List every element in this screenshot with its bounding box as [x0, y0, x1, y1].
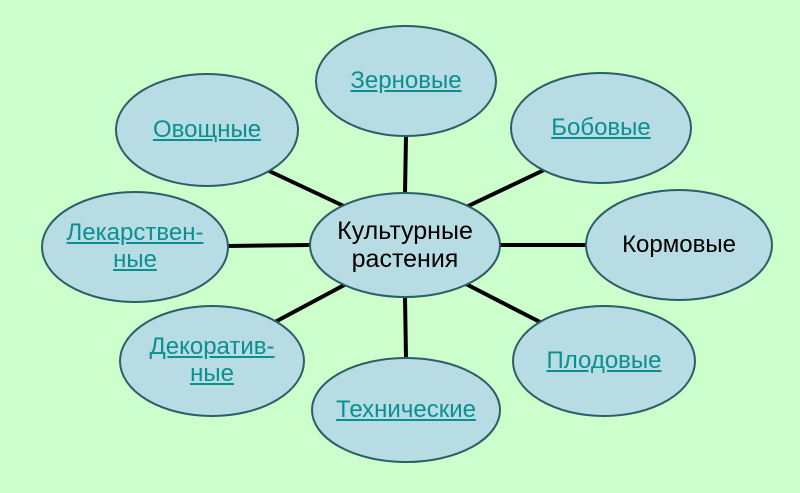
connector-line	[464, 283, 540, 322]
connector-line	[275, 283, 348, 322]
node-ellipse-plodovye[interactable]	[513, 306, 695, 416]
connector-line	[405, 297, 406, 358]
connector-line	[464, 170, 544, 208]
diagram-canvas: Культурные растенияЗерновыеОвощныеБобовы…	[0, 0, 800, 493]
connector-line	[267, 170, 348, 208]
center-node-ellipse-center	[310, 193, 500, 297]
connector-line	[228, 245, 310, 246]
ellipse-layer	[42, 26, 772, 462]
node-ellipse-kormovye	[586, 190, 772, 300]
node-ellipse-lekarstvennye[interactable]	[42, 192, 228, 302]
node-ellipse-tehnicheskie[interactable]	[312, 358, 500, 462]
connector-line	[405, 136, 406, 193]
node-ellipse-zernovye[interactable]	[316, 26, 496, 136]
diagram-svg	[0, 0, 800, 493]
node-ellipse-dekorativnye[interactable]	[120, 306, 304, 416]
node-ellipse-ovoshchnye[interactable]	[116, 74, 298, 186]
node-ellipse-bobovye[interactable]	[511, 73, 691, 183]
